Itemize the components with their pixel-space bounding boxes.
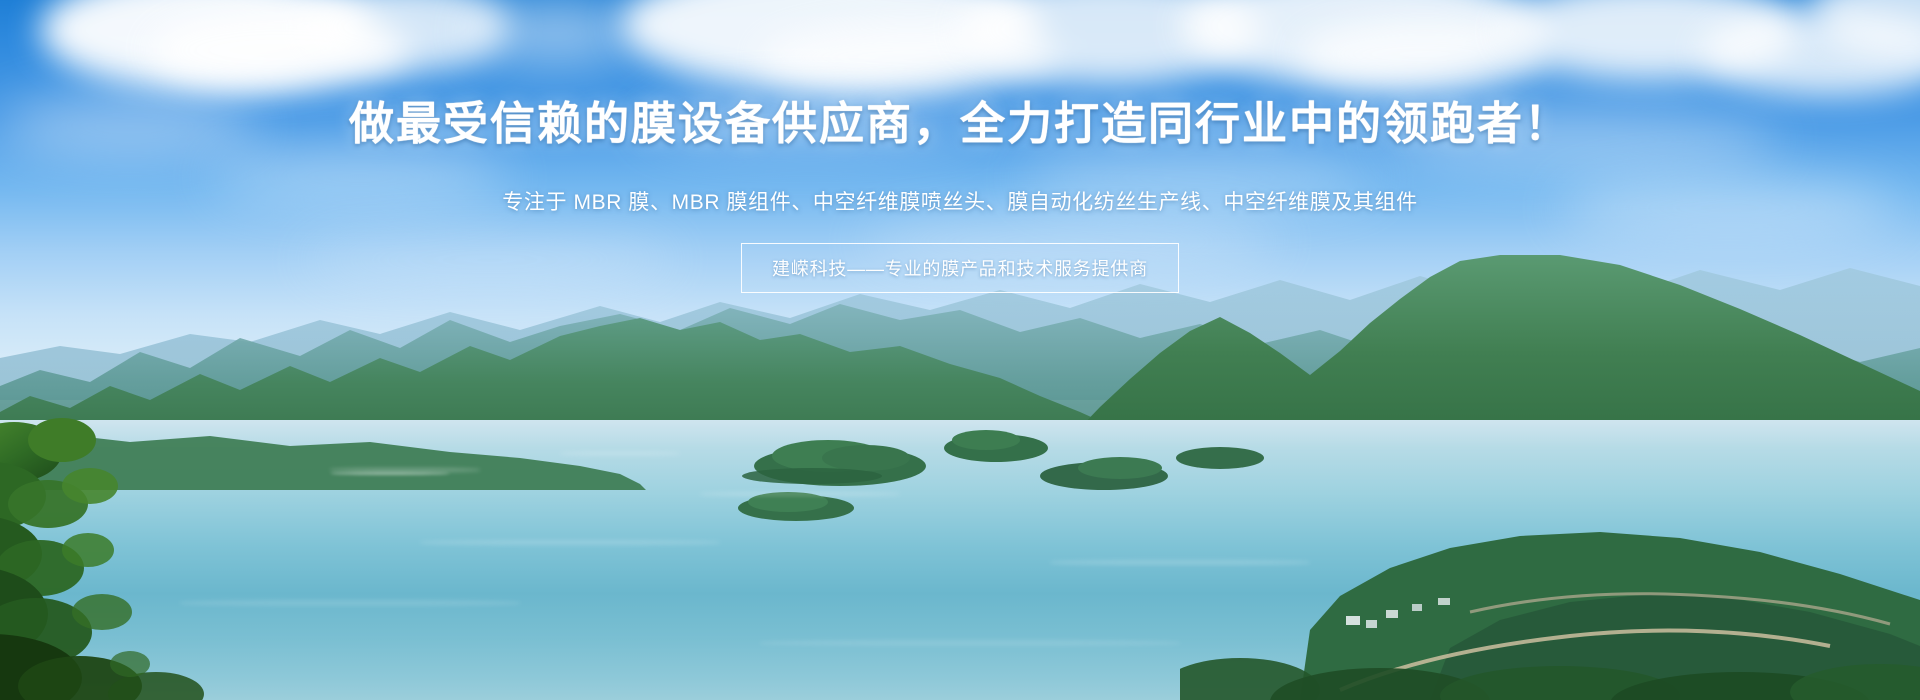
hero-banner: 做最受信赖的膜设备供应商，全力打造同行业中的领跑者！ 专注于 MBR 膜、MBR… [0,0,1920,700]
banner-tagline-box: 建嵘科技——专业的膜产品和技术服务提供商 [741,243,1179,293]
banner-headline: 做最受信赖的膜设备供应商，全力打造同行业中的领跑者！ [0,100,1920,147]
banner-tagline-wrap: 建嵘科技——专业的膜产品和技术服务提供商 [0,243,1920,293]
banner-subtitle: 专注于 MBR 膜、MBR 膜组件、中空纤维膜喷丝头、膜自动化纺丝生产线、中空纤… [0,186,1920,216]
banner-text-overlay: 做最受信赖的膜设备供应商，全力打造同行业中的领跑者！ 专注于 MBR 膜、MBR… [0,0,1920,700]
